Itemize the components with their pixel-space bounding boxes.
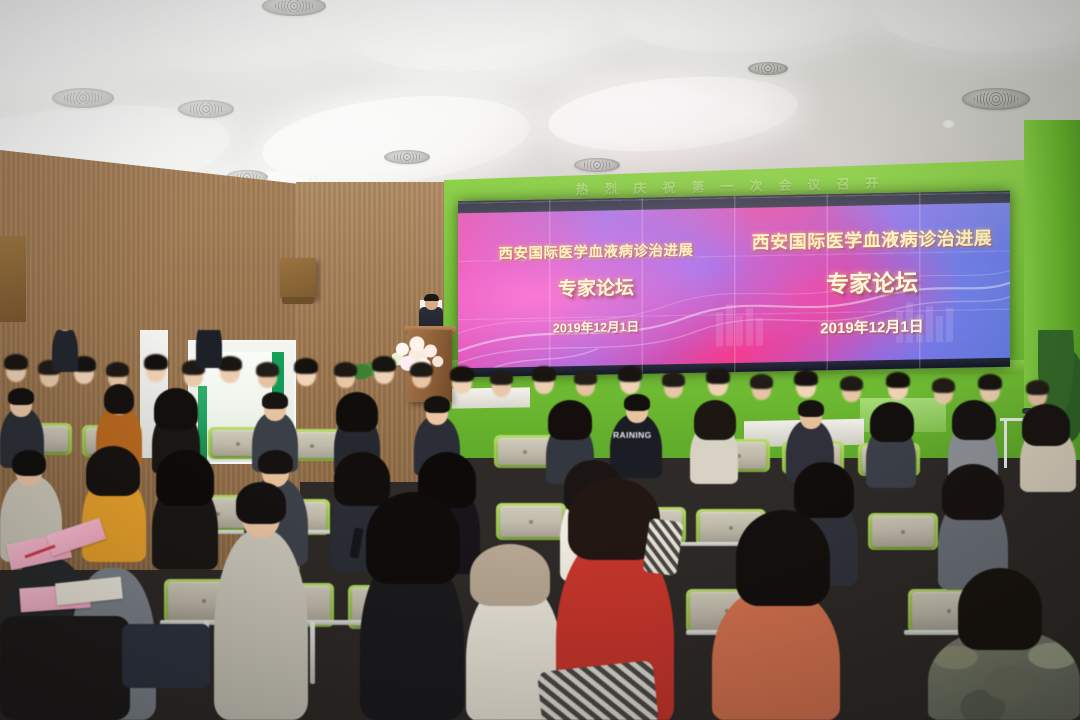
audience-hair (450, 366, 474, 382)
audience-hair (618, 366, 642, 382)
attendee-hair (236, 482, 286, 524)
ceiling-spotlight (942, 120, 955, 128)
attendee-hair (470, 544, 550, 606)
oval-light-panel (545, 67, 800, 161)
audience-area: RAINING (0, 330, 1080, 720)
audience-hair (410, 362, 433, 377)
oval-light-panel (340, 0, 647, 83)
scarf (642, 518, 683, 576)
attendee-hair (334, 452, 390, 506)
ceiling-vent (178, 100, 234, 118)
attendee-hair (424, 396, 450, 413)
attendee-hair (336, 392, 378, 432)
attendee-hair (8, 388, 34, 405)
ceiling-vent (748, 62, 788, 75)
audience-hair (574, 370, 597, 385)
ceiling-vent (52, 88, 114, 108)
wall-speaker (280, 258, 316, 298)
oval-light-panel (870, 0, 1080, 59)
conference-hall-photo: 热烈庆祝第一次会议召开 ·········· · (0, 0, 1080, 720)
audience-hair (294, 358, 318, 374)
chair-rail (310, 622, 315, 684)
jacket-text-label: RAINING (613, 430, 661, 440)
standing-attendee (196, 330, 222, 368)
audience-hair (532, 366, 556, 382)
audience-hair (794, 370, 818, 386)
ceiling-vent (962, 88, 1030, 110)
oval-light-panel (0, 0, 216, 120)
attendee-hair (366, 492, 460, 584)
audience-hair (750, 374, 773, 389)
audience-hair (706, 368, 730, 384)
audience-hair (932, 378, 955, 393)
audience-hair (886, 372, 910, 388)
attendee-hair (154, 388, 198, 430)
seated-attendee-salmon (712, 588, 840, 720)
attendee-hair (958, 568, 1042, 650)
audience-hair (490, 370, 513, 385)
bag (122, 624, 210, 688)
auditorium-chair[interactable] (872, 516, 934, 547)
attendee-hair (104, 384, 134, 414)
attendee-hair (258, 450, 293, 474)
auditorium-chair[interactable] (498, 438, 552, 465)
audience-hair (106, 362, 129, 377)
attendee-hair (942, 464, 1004, 520)
bag (0, 616, 130, 720)
attendee-hair (12, 450, 46, 476)
attendee-hair (262, 392, 288, 409)
attendee-hair (798, 400, 824, 417)
seated-attendee-training-jacket (610, 414, 662, 478)
ceiling-vent (574, 158, 620, 172)
audience-hair (144, 354, 168, 370)
audience-hair (372, 356, 396, 372)
attendee-hair (952, 400, 996, 440)
oval-light-panel (609, 0, 905, 62)
attendee-hair (86, 446, 140, 496)
attendee-hair (156, 450, 214, 506)
audience-hair (334, 362, 357, 377)
audience-hair (840, 376, 863, 391)
attendee-hair (736, 510, 830, 606)
audience-hair (662, 372, 685, 387)
standing-attendee (52, 330, 78, 372)
attendee-hair (694, 400, 736, 440)
attendee-hair (794, 462, 854, 518)
seated-attendee (214, 530, 308, 720)
audience-hair (1026, 380, 1049, 395)
attendee-hair (624, 394, 650, 411)
audience-hair (4, 354, 28, 370)
attendee-hair (1022, 404, 1070, 446)
presenter-hair (424, 294, 439, 301)
ceiling-vent (384, 150, 430, 164)
wall-speaker (0, 236, 26, 322)
auditorium-chair[interactable] (500, 506, 562, 537)
attendee-hair (870, 402, 914, 442)
attendee-hair (548, 400, 592, 440)
oval-light-panel (113, 0, 423, 88)
ceiling-vent (262, 0, 326, 16)
audience-hair (256, 362, 279, 377)
audience-hair (978, 374, 1002, 390)
